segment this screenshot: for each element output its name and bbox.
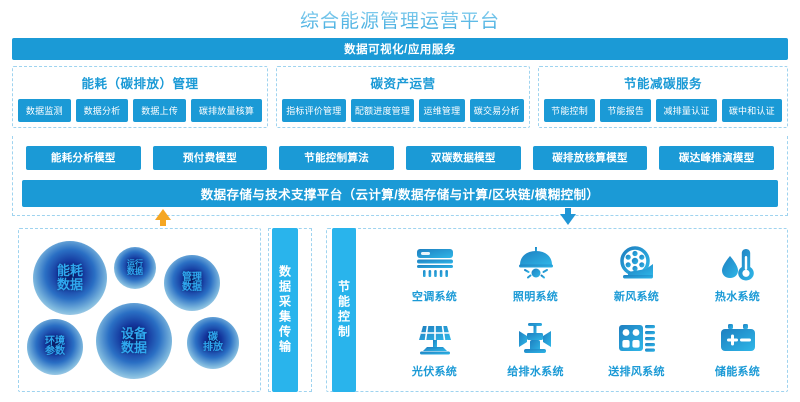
chip-2-2[interactable]: 减排量认证 xyxy=(656,99,716,122)
air-conditioner-icon xyxy=(413,242,457,286)
ventilation-fan-icon xyxy=(615,242,659,286)
chip-1-0[interactable]: 指标评价管理 xyxy=(282,99,346,122)
data-bubble-management-line2: 数据 xyxy=(182,283,202,294)
hot-water-icon xyxy=(716,242,760,286)
system-label-water-supply-drainage: 给排水系统 xyxy=(507,363,564,379)
group-title-0: 能耗（碳排放）管理 xyxy=(13,73,267,92)
data-bubble-device[interactable]: 设备 数据 xyxy=(96,303,172,379)
group-title-1: 碳资产运营 xyxy=(277,73,529,92)
group-panel-energy-management: 能耗（碳排放）管理 数据监测 数据分析 数据上传 碳排放量核算 xyxy=(12,66,268,128)
chip-0-1[interactable]: 数据分析 xyxy=(76,99,129,122)
system-label-energy-storage: 储能系统 xyxy=(715,363,760,379)
chip-2-1[interactable]: 节能报告 xyxy=(600,99,651,122)
chip-0-0[interactable]: 数据监测 xyxy=(18,99,71,122)
systems-grid: 空调系统 xyxy=(384,236,788,386)
system-item-lighting[interactable]: 照明系统 xyxy=(485,236,586,311)
chip-0-3[interactable]: 碳排放量核算 xyxy=(191,99,262,122)
data-bubble-management[interactable]: 管理 数据 xyxy=(164,255,220,311)
model-item-5[interactable]: 碳达峰推演模型 xyxy=(659,146,774,170)
solar-panel-icon xyxy=(413,317,457,361)
visualization-service-label: 数据可视化/应用服务 xyxy=(344,41,456,57)
vertical-bar-energy-control: 节能控制 xyxy=(332,228,356,392)
system-item-air-conditioner[interactable]: 空调系统 xyxy=(384,236,485,311)
chip-2-0[interactable]: 节能控制 xyxy=(544,99,595,122)
group-panel-carbon-reduction: 节能减碳服务 节能控制 节能报告 减排量认证 碳中和认证 xyxy=(538,66,788,128)
chip-2-3[interactable]: 碳中和认证 xyxy=(722,99,782,122)
visualization-service-bar: 数据可视化/应用服务 xyxy=(12,38,788,60)
data-bubble-energy-line1: 能耗 xyxy=(57,264,83,278)
battery-storage-icon xyxy=(716,317,760,361)
chip-row-0: 数据监测 数据分析 数据上传 碳排放量核算 xyxy=(13,99,267,122)
data-bubble-operation-line2: 数据 xyxy=(127,268,143,276)
vertical-bar-data-collection: 数据采集传输 xyxy=(272,228,298,392)
system-label-solar: 光伏系统 xyxy=(412,363,457,379)
data-bubbles-panel: 能耗 数据 运行 数据 管理 数据 环境 参数 设备 数据 xyxy=(18,228,261,392)
chip-0-2[interactable]: 数据上传 xyxy=(133,99,186,122)
chip-1-1[interactable]: 配额进度管理 xyxy=(351,99,415,122)
model-item-1[interactable]: 预付费模型 xyxy=(153,146,268,170)
model-item-0[interactable]: 能耗分析模型 xyxy=(26,146,141,170)
data-bubble-device-line1: 设备 xyxy=(121,327,147,341)
system-item-water-supply-drainage[interactable]: 给排水系统 xyxy=(485,311,586,386)
system-label-air-supply-exhaust: 送排风系统 xyxy=(608,363,665,379)
system-label-ventilation: 新风系统 xyxy=(614,288,659,304)
data-bubble-energy-line2: 数据 xyxy=(57,278,83,292)
platform-bar-label: 数据存储与技术支撑平台（云计算/数据存储与计算/区块链/模糊控制） xyxy=(201,184,600,203)
data-bubble-carbon-line2: 排放 xyxy=(203,343,223,354)
air-supply-exhaust-icon xyxy=(615,317,659,361)
model-item-4[interactable]: 碳排放核算模型 xyxy=(533,146,648,170)
system-label-lighting: 照明系统 xyxy=(513,288,558,304)
chip-row-2: 节能控制 节能报告 减排量认证 碳中和认证 xyxy=(539,99,787,122)
system-item-ventilation[interactable]: 新风系统 xyxy=(586,236,687,311)
arrow-up-stem xyxy=(160,219,166,226)
system-item-air-supply-exhaust[interactable]: 送排风系统 xyxy=(586,311,687,386)
data-bubble-device-line2: 数据 xyxy=(121,341,147,355)
system-item-solar[interactable]: 光伏系统 xyxy=(384,311,485,386)
page-title: 综合能源管理运营平台 xyxy=(0,6,800,33)
data-bubble-carbon[interactable]: 碳 排放 xyxy=(187,317,239,369)
model-row: 能耗分析模型 预付费模型 节能控制算法 双碳数据模型 碳排放核算模型 碳达峰推演… xyxy=(12,140,788,176)
group-panel-carbon-asset: 碳资产运营 指标评价管理 配额进度管理 运维管理 碳交易分析 xyxy=(276,66,530,128)
model-item-2[interactable]: 节能控制算法 xyxy=(279,146,394,170)
lighting-icon xyxy=(514,242,558,286)
platform-bar: 数据存储与技术支撑平台（云计算/数据存储与计算/区块链/模糊控制） xyxy=(22,180,778,207)
system-item-energy-storage[interactable]: 储能系统 xyxy=(687,311,788,386)
arrow-up-icon xyxy=(155,209,171,220)
chip-1-2[interactable]: 运维管理 xyxy=(419,99,464,122)
data-bubble-operation[interactable]: 运行 数据 xyxy=(114,247,156,289)
diagram-canvas: 综合能源管理运营平台 数据可视化/应用服务 能耗（碳排放）管理 数据监测 数据分… xyxy=(0,0,800,402)
water-valve-icon xyxy=(514,317,558,361)
system-item-hot-water[interactable]: 热水系统 xyxy=(687,236,788,311)
arrow-down-icon xyxy=(560,214,576,225)
model-item-3[interactable]: 双碳数据模型 xyxy=(406,146,521,170)
data-bubble-energy[interactable]: 能耗 数据 xyxy=(33,241,107,315)
system-label-air-conditioner: 空调系统 xyxy=(412,288,457,304)
chip-row-1: 指标评价管理 配额进度管理 运维管理 碳交易分析 xyxy=(277,99,529,122)
data-bubble-environment[interactable]: 环境 参数 xyxy=(27,319,83,375)
system-label-hot-water: 热水系统 xyxy=(715,288,760,304)
chip-1-3[interactable]: 碳交易分析 xyxy=(470,99,524,122)
data-bubble-environment-line2: 参数 xyxy=(45,347,65,358)
group-title-2: 节能减碳服务 xyxy=(539,73,787,92)
